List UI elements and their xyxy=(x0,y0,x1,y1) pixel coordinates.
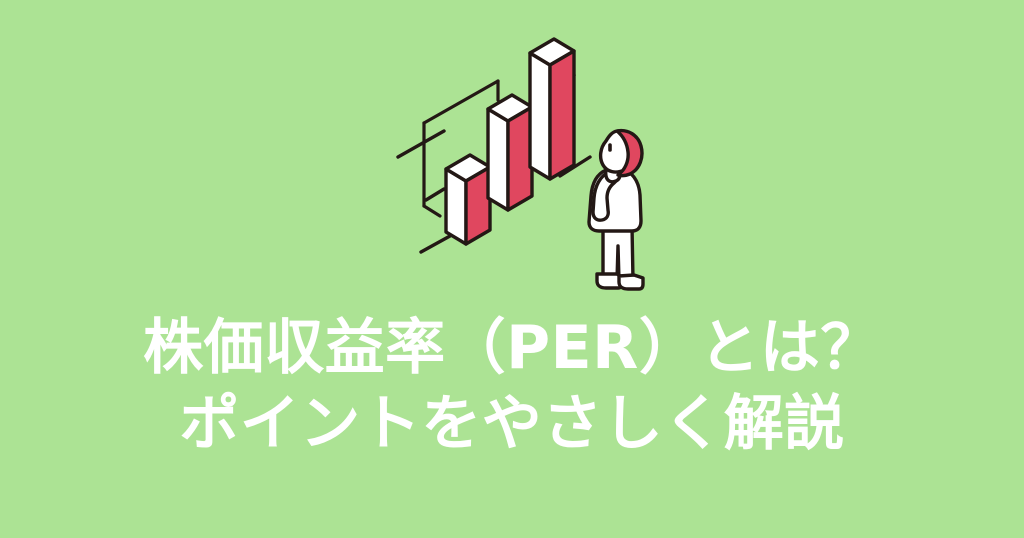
thinking-person xyxy=(589,131,643,289)
thumbnail-canvas: 株価収益率（PER）とは？ ポイントをやさしく解説 xyxy=(0,0,1024,538)
illustration-isometric-bar-chart xyxy=(378,30,664,302)
person-legs xyxy=(603,226,633,280)
title-block: 株価収益率（PER）とは？ ポイントをやさしく解説 xyxy=(0,318,1024,454)
bar-medium xyxy=(488,95,532,210)
bar-tall xyxy=(530,39,574,179)
title-line-2: ポイントをやさしく解説 xyxy=(0,394,1024,454)
person-shoe-right xyxy=(619,275,643,289)
bar-short xyxy=(446,155,490,244)
title-line-1: 株価収益率（PER）とは？ xyxy=(0,318,1024,378)
